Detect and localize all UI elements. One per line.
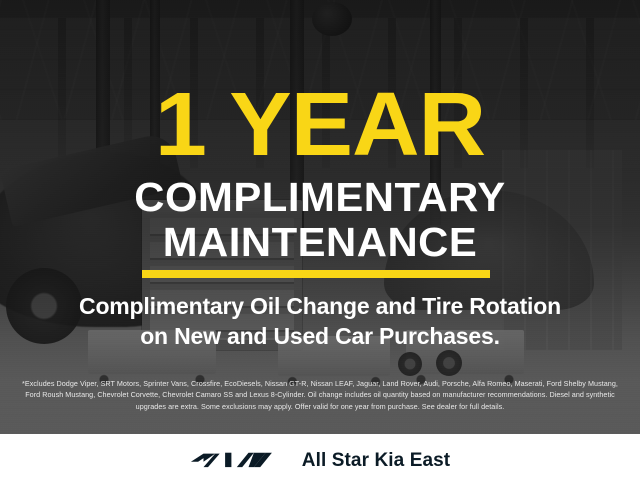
promotional-banner: 1 YEAR COMPLIMENTARY MAINTENANCE Complim… xyxy=(0,0,640,488)
yellow-divider-bar xyxy=(142,270,490,278)
headline-maintenance: MAINTENANCE xyxy=(0,222,640,263)
hero-banner: 1 YEAR COMPLIMENTARY MAINTENANCE Complim… xyxy=(0,0,640,434)
disclaimer-text: *Excludes Dodge Viper, SRT Motors, Sprin… xyxy=(16,378,624,412)
tagline-line-1: Complimentary Oil Change and Tire Rotati… xyxy=(22,291,618,321)
kia-logo xyxy=(190,448,280,475)
dealer-name: All Star Kia East xyxy=(302,450,450,472)
headline-complimentary: COMPLIMENTARY xyxy=(0,177,640,218)
headline-year: 1 YEAR xyxy=(0,80,640,170)
tagline: Complimentary Oil Change and Tire Rotati… xyxy=(22,291,618,351)
tagline-line-2: on New and Used Car Purchases. xyxy=(22,321,618,351)
dealer-footer: All Star Kia East xyxy=(0,434,640,488)
banner-copy: 1 YEAR COMPLIMENTARY MAINTENANCE Complim… xyxy=(0,0,640,434)
